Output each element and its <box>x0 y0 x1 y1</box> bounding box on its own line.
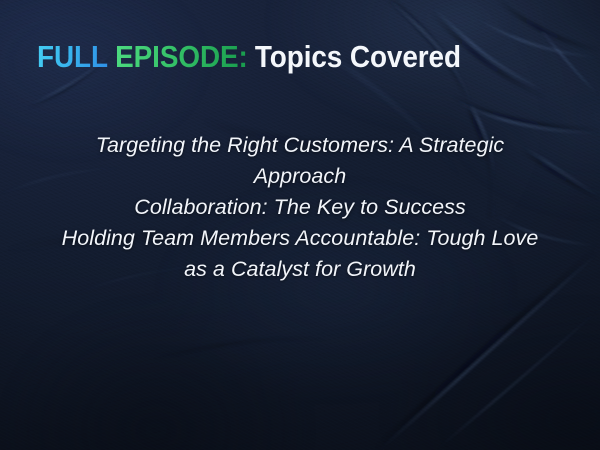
topic-line: Collaboration: The Key to Success <box>0 192 600 223</box>
header-eyebrow-primary: FULL <box>37 40 108 74</box>
topic-line: as a Catalyst for Growth <box>0 254 600 285</box>
topic-line: Approach <box>0 161 600 192</box>
topics-list: Targeting the Right Customers: A Strateg… <box>0 130 600 285</box>
slide-content: FULLEPISODE:Topics Covered Targeting the… <box>0 0 600 450</box>
page-title: Topics Covered <box>255 40 461 74</box>
topic-line: Holding Team Members Accountable: Tough … <box>0 223 600 254</box>
slide-header: FULLEPISODE:Topics Covered <box>37 40 461 74</box>
topic-line: Targeting the Right Customers: A Strateg… <box>0 130 600 161</box>
presentation-slide: FULLEPISODE:Topics Covered Targeting the… <box>0 0 600 450</box>
header-eyebrow-secondary: EPISODE: <box>115 40 248 74</box>
